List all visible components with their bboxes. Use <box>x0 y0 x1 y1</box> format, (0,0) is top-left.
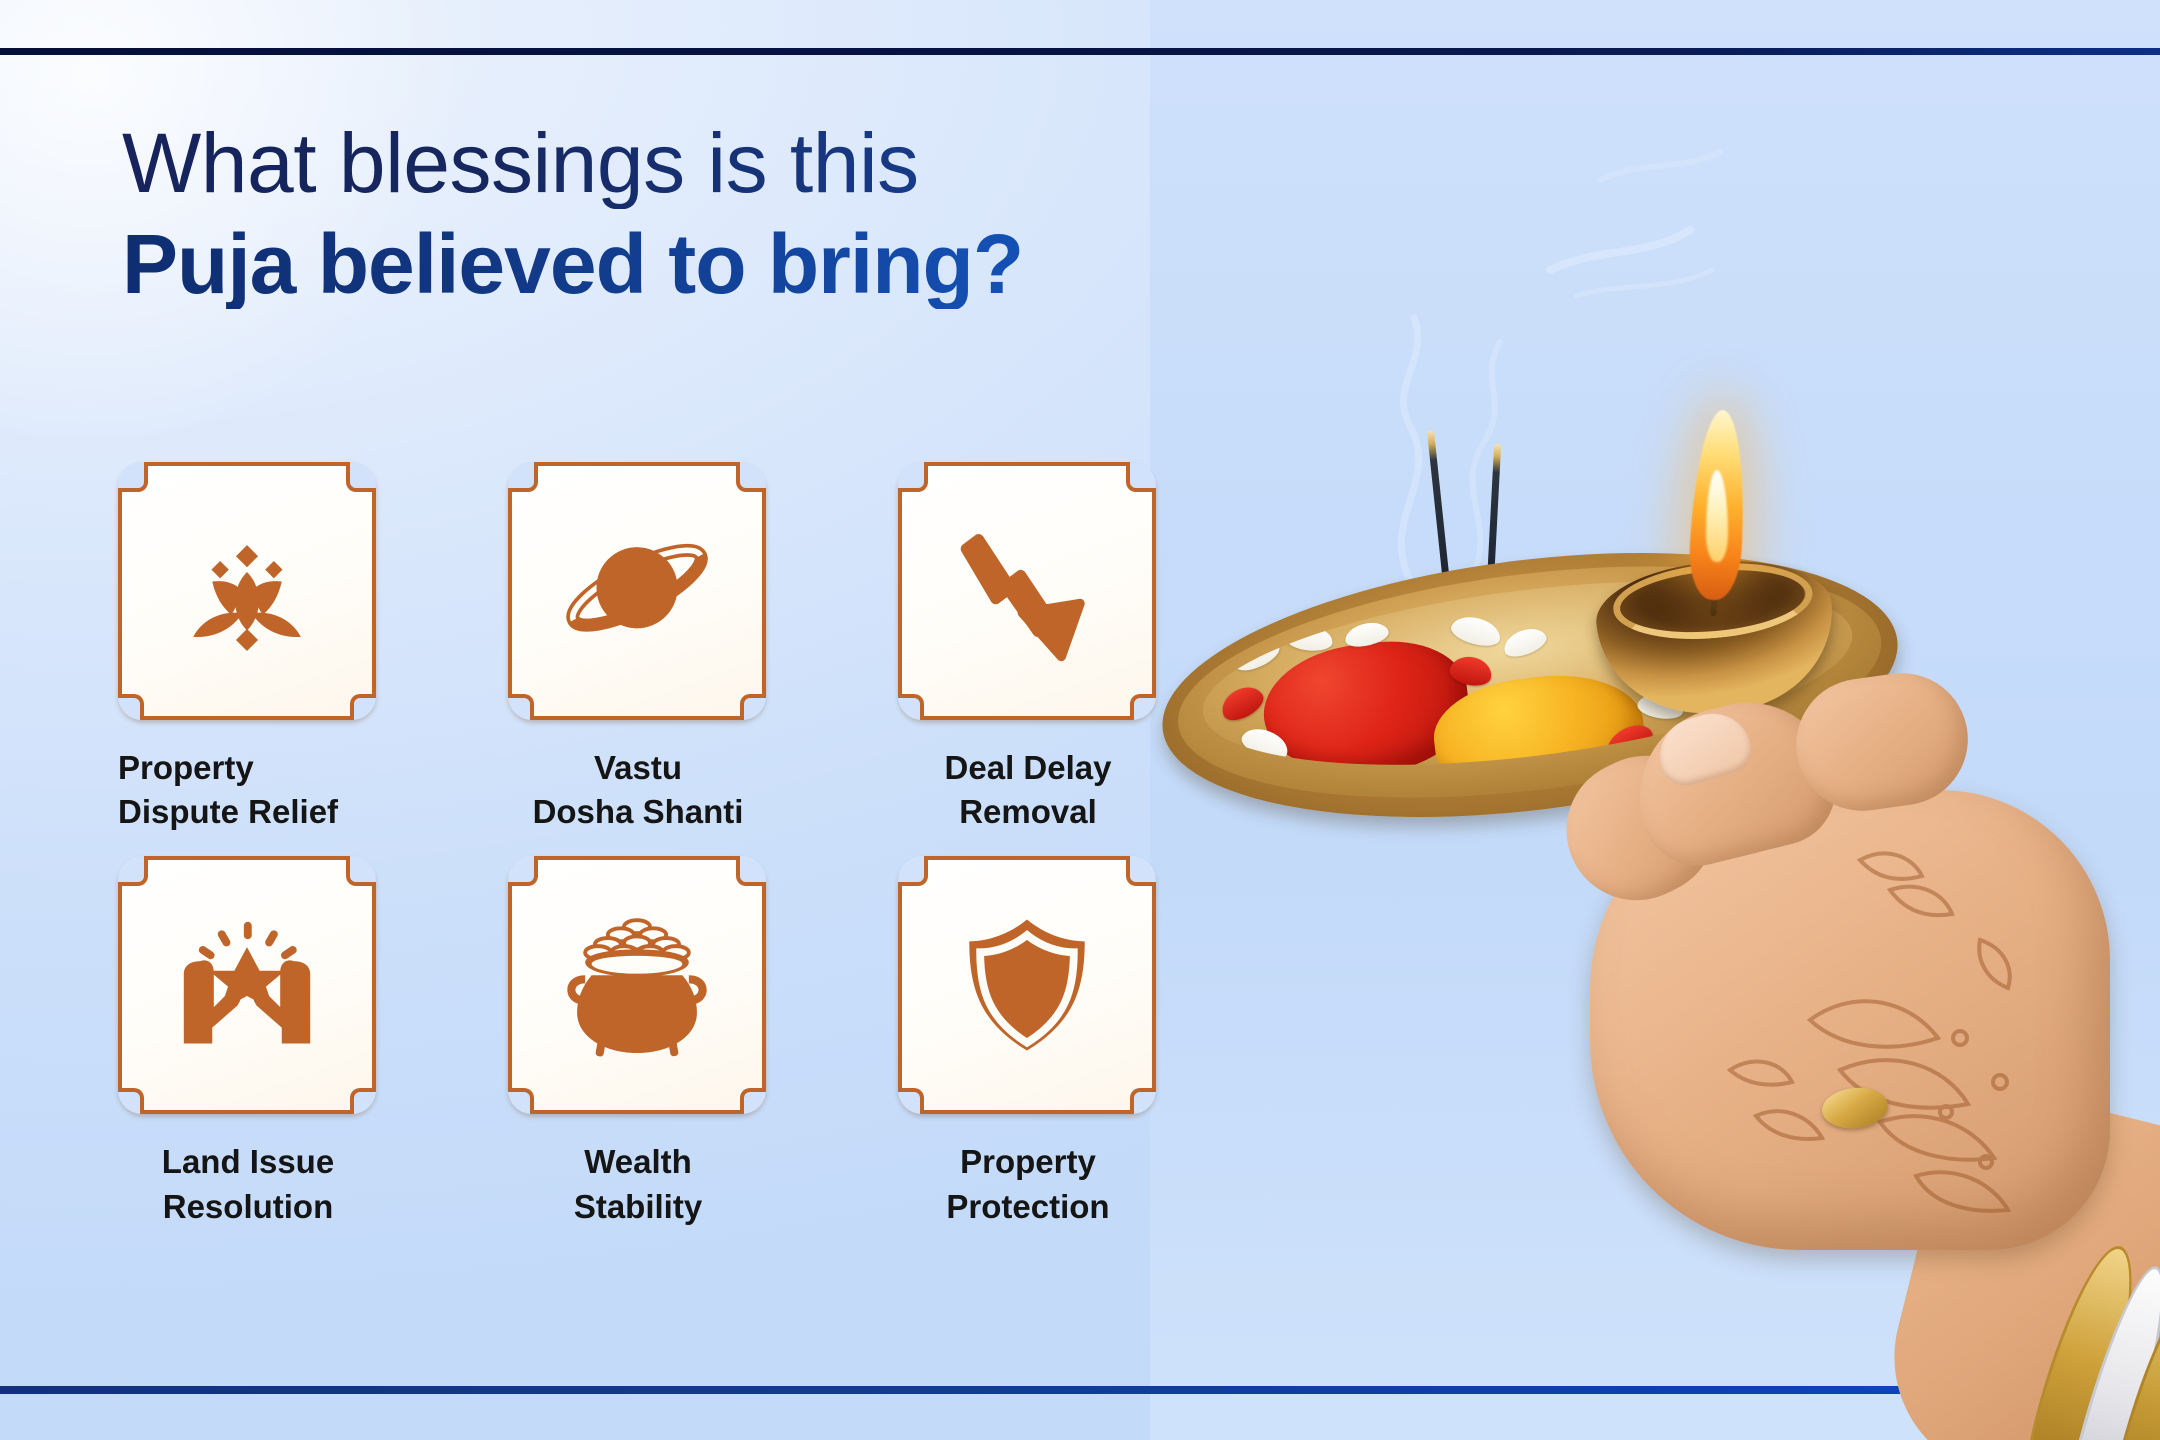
icon-card-wrapper <box>508 462 768 720</box>
corner-notch-bottom-right <box>740 694 766 720</box>
benefit-caption-line-2: Resolution <box>118 1185 378 1229</box>
icon-card <box>508 856 766 1114</box>
icon-card-wrapper <box>508 856 768 1114</box>
benefit-caption-line-1: Land Issue <box>118 1140 378 1184</box>
saturn-planet-icon <box>556 510 718 672</box>
icon-card-wrapper <box>898 856 1158 1114</box>
red-rose-petal <box>1216 680 1268 726</box>
shield-icon <box>949 907 1105 1063</box>
icon-card-wrapper <box>118 856 378 1114</box>
benefit-item-land-issue-resolution[interactable]: Land Issue Resolution <box>118 856 508 1228</box>
corner-notch-bottom-right <box>350 1088 376 1114</box>
icon-card <box>898 856 1156 1114</box>
lotus-icon <box>168 512 326 670</box>
benefit-caption: Land Issue Resolution <box>118 1140 378 1228</box>
icon-card <box>118 856 376 1114</box>
corner-notch-bottom-left <box>118 694 144 720</box>
benefit-caption: Deal Delay Removal <box>898 746 1158 834</box>
mehndi-hand <box>1440 640 2160 1440</box>
benefit-caption-line-1: Property <box>898 1140 1158 1184</box>
benefit-caption: Wealth Stability <box>508 1140 768 1228</box>
heading-block: What blessings is this Puja believed to … <box>122 118 1162 309</box>
benefit-item-property-dispute-relief[interactable]: Property Dispute Relief <box>118 462 508 834</box>
icon-card <box>118 462 376 720</box>
benefit-caption: Vastu Dosha Shanti <box>508 746 768 834</box>
corner-notch-bottom-left <box>508 694 534 720</box>
icon-card <box>508 462 766 720</box>
benefit-caption-line-2: Dispute Relief <box>118 790 458 834</box>
hands-holding-star-icon <box>168 906 326 1064</box>
benefit-caption-line-2: Stability <box>508 1185 768 1229</box>
heading-line-2: Puja believed to bring? <box>122 219 1162 310</box>
benefit-caption-line-1: Deal Delay <box>898 746 1158 790</box>
benefit-caption-line-2: Removal <box>898 790 1158 834</box>
heading-line-1: What blessings is this <box>122 118 1162 209</box>
corner-notch-bottom-left <box>508 1088 534 1114</box>
corner-notch-bottom-right <box>740 1088 766 1114</box>
icon-card-wrapper <box>118 462 378 720</box>
pot-of-coins-icon <box>556 904 718 1066</box>
puja-thali-photo <box>1140 0 2160 1440</box>
corner-notch-bottom-left <box>118 1088 144 1114</box>
benefit-caption: Property Dispute Relief <box>118 746 458 834</box>
benefit-item-wealth-stability[interactable]: Wealth Stability <box>508 856 898 1228</box>
corner-notch-bottom-left <box>898 1088 924 1114</box>
poster-canvas: What blessings is this Puja believed to … <box>0 0 2160 1440</box>
benefit-item-vastu-dosha-shanti[interactable]: Vastu Dosha Shanti <box>508 462 898 834</box>
benefit-caption-line-1: Property <box>118 746 458 790</box>
benefit-caption-line-2: Dosha Shanti <box>508 790 768 834</box>
benefit-caption: Property Protection <box>898 1140 1158 1228</box>
corner-notch-bottom-right <box>350 694 376 720</box>
benefit-caption-line-2: Protection <box>898 1185 1158 1229</box>
corner-notch-bottom-left <box>898 694 924 720</box>
benefit-caption-line-1: Wealth <box>508 1140 768 1184</box>
benefit-caption-line-1: Vastu <box>508 746 768 790</box>
